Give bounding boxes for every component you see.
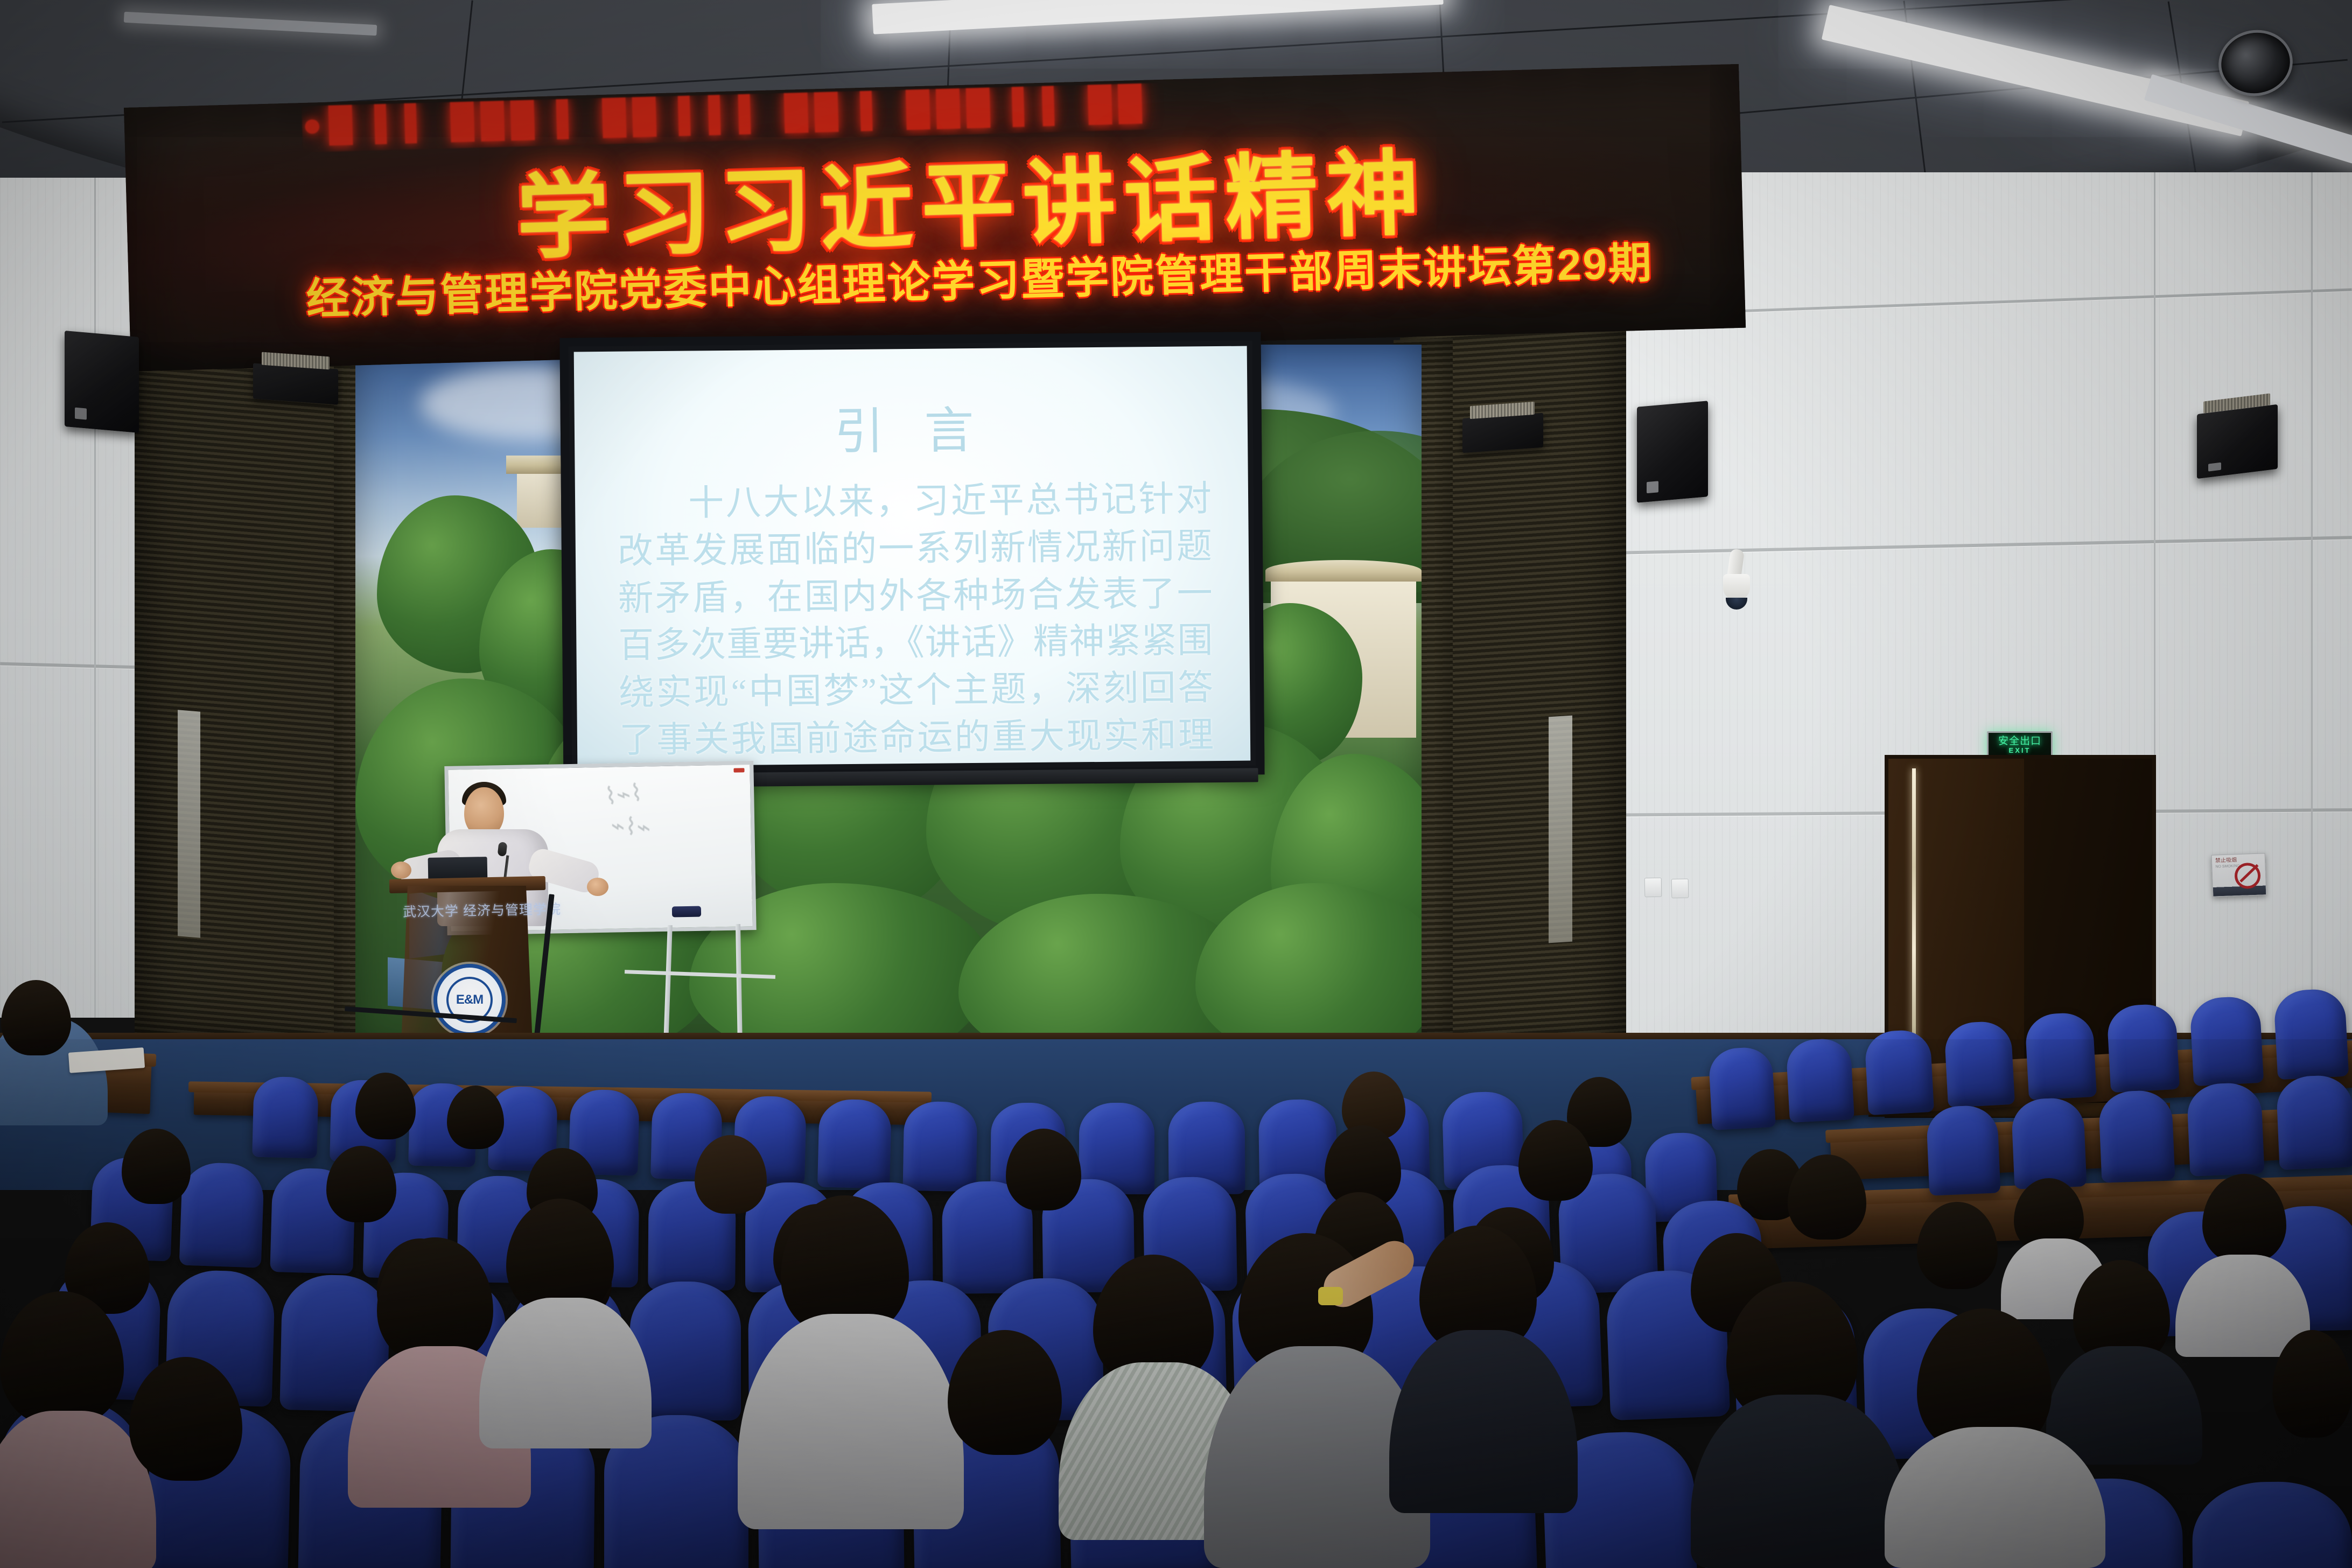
seat[interactable]	[252, 1076, 319, 1159]
no-smoking-sign: 禁止吸烟 NO SMOKING	[2211, 853, 2267, 897]
wall-speaker-center-right	[1637, 401, 1708, 503]
seat[interactable]	[2025, 1012, 2097, 1100]
stage-light-left	[253, 363, 338, 404]
wall-seam	[94, 178, 96, 1018]
seat[interactable]	[2192, 1481, 2352, 1568]
slide-body-text: 十八大以来，习近平总书记针对改革发展面临的一系列新情况新问题新矛盾，在国内外各种…	[617, 475, 1214, 766]
seat[interactable]	[903, 1101, 978, 1192]
wall-speaker-left-upper	[65, 331, 139, 433]
attendee-body	[2046, 1346, 2202, 1465]
seat[interactable]	[1708, 1046, 1776, 1130]
seat[interactable]	[2189, 996, 2264, 1087]
stage-light-right	[1462, 413, 1543, 453]
no-smoking-label: 禁止吸烟	[2215, 857, 2237, 864]
whiteboard-scribble: ⌁⌇⌁	[610, 812, 652, 842]
slide-title: 引 言	[574, 388, 1248, 466]
seat[interactable]	[2098, 1089, 2175, 1183]
projection-screen: 引 言 十八大以来，习近平总书记针对改革发展面临的一系列新情况新问题新矛盾，在国…	[559, 332, 1264, 780]
lecture-hall-photo: ●█ ▌▌ ███ ▌ ██ ▌▌▌ ██ ▌ ███ ▌▌ ██ 学习习近平讲…	[0, 0, 2352, 1568]
security-camera-body	[1723, 574, 1750, 601]
led-banner-board: ●█ ▌▌ ███ ▌ ██ ▌▌▌ ██ ▌ ███ ▌▌ ██ 学习习近平讲…	[124, 64, 1746, 372]
seat[interactable]	[1944, 1020, 2015, 1108]
wristband	[1318, 1287, 1343, 1305]
seat[interactable]	[2187, 1082, 2265, 1177]
seat[interactable]	[1926, 1104, 2001, 1195]
seat[interactable]	[2273, 988, 2349, 1080]
seat[interactable]	[179, 1161, 265, 1268]
seat[interactable]	[1786, 1038, 1854, 1123]
seat[interactable]	[2011, 1097, 2087, 1189]
presenter-left-hand	[391, 862, 411, 879]
whiteboard-marker[interactable]	[672, 906, 701, 918]
seat[interactable]	[817, 1098, 892, 1188]
wall-speaker-right	[2197, 404, 2278, 479]
wall-slot-left	[178, 710, 200, 937]
seat[interactable]	[1864, 1029, 1934, 1115]
exit-sign-chinese: 安全出口	[1998, 736, 2041, 746]
whiteboard-scribble: ⌇⌁⌇	[603, 779, 643, 810]
wall-slot-right	[1549, 716, 1572, 943]
power-outlet[interactable]	[1644, 878, 1662, 898]
exit-sign-english: EXIT	[2009, 746, 2031, 755]
whiteboard-clip	[733, 768, 744, 772]
power-outlet[interactable]	[1671, 879, 1689, 899]
presenter-right-hand	[587, 878, 608, 896]
seat[interactable]	[2276, 1074, 2352, 1170]
podium-nameplate: 武汉大学 经济与管理学院	[403, 899, 533, 921]
projection-screen-surface: 引 言 十八大以来，习近平总书记针对改革发展面临的一系列新情况新问题新矛盾，在国…	[574, 346, 1251, 767]
podium-logo: E&M	[433, 964, 506, 1036]
seat[interactable]	[2106, 1003, 2180, 1093]
